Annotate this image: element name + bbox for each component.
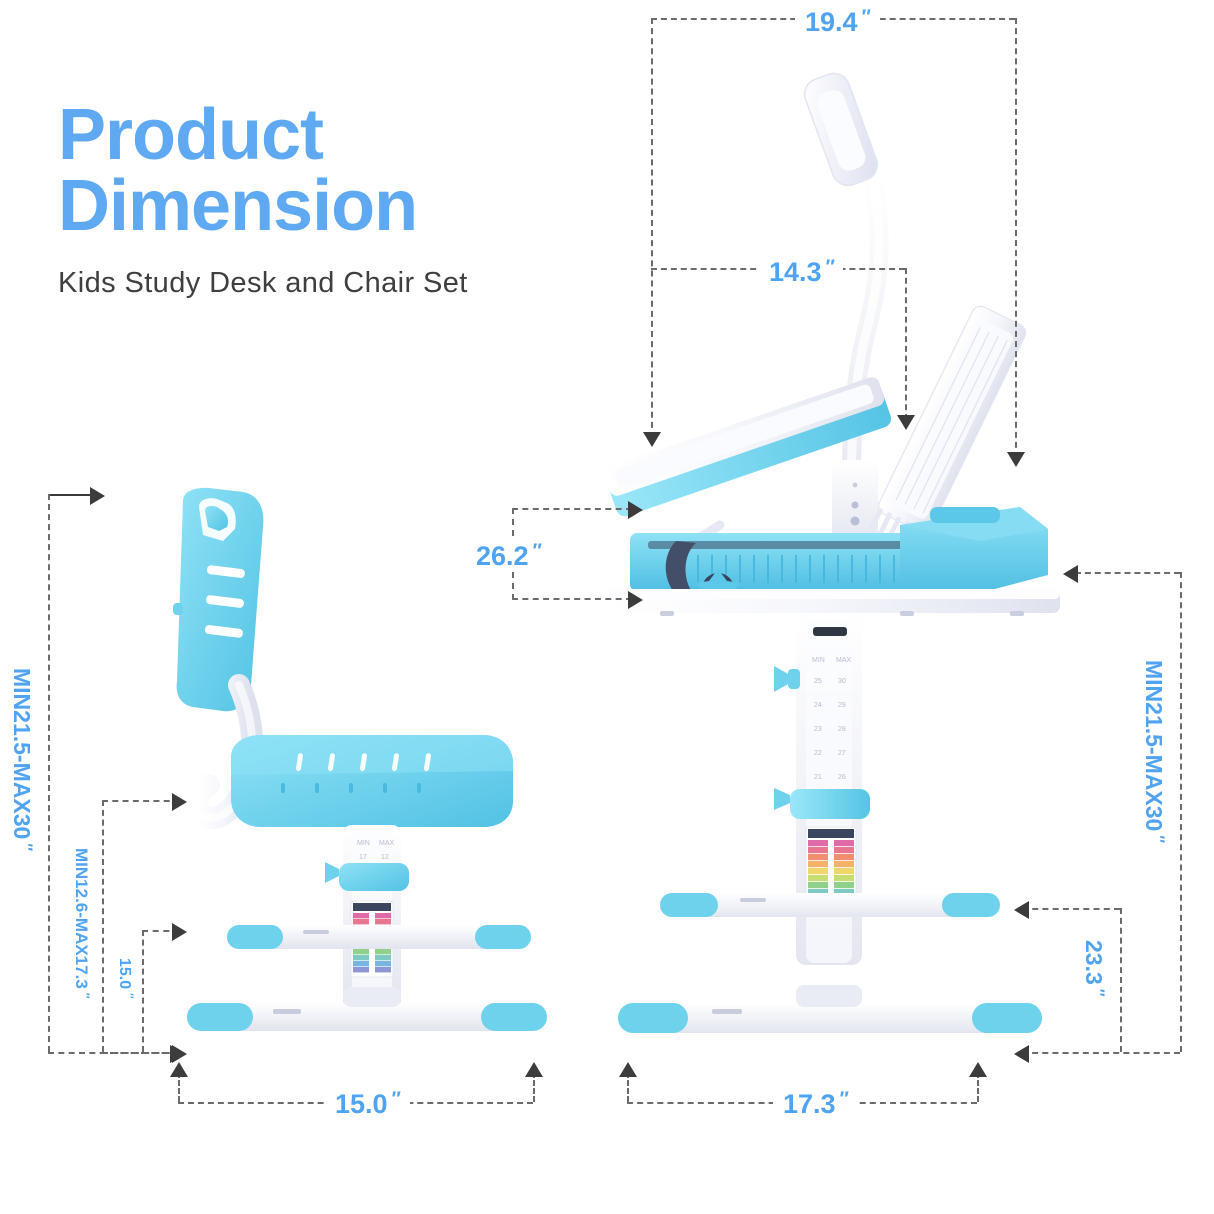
guide-23-3-top (1022, 908, 1120, 910)
arrow-23-3-top (1014, 901, 1029, 919)
svg-text:23: 23 (814, 726, 822, 733)
desk-lamp (800, 69, 882, 546)
dimension-label-desk-inner-width: 14.3″ (760, 256, 843, 288)
svg-text:25: 25 (814, 678, 822, 685)
svg-text:28: 28 (838, 726, 846, 733)
chair-base-bar (187, 987, 547, 1031)
guide-23-3-line (1120, 908, 1122, 1052)
dimension-label-desk-base-width: 17.3″ (773, 1088, 858, 1120)
svg-text:24: 24 (814, 702, 822, 709)
guide-chair-height-line (48, 494, 50, 1052)
arrow-chair-seat-depth-top (172, 923, 187, 941)
desk-base-bar (618, 985, 1042, 1033)
svg-text:MAX: MAX (379, 840, 395, 847)
product-dimension-infographic: Product Dimension Kids Study Desk and Ch… (0, 0, 1214, 1214)
desk-main-top (608, 589, 1060, 616)
dimension-label-chair-seat-depth: 15.0″ (113, 958, 136, 998)
guide-desk-height-line (1180, 572, 1182, 1052)
chair-backrest (173, 488, 263, 711)
arrow-17-3-right (969, 1062, 987, 1077)
svg-text:26: 26 (838, 774, 846, 781)
arrow-19-4-right (1007, 452, 1025, 467)
arrow-chair-seat-depth-bottom (172, 1045, 187, 1063)
dimension-label-desk-height-range: MIN21.5-MAX30″ (1138, 660, 1170, 842)
dimension-label-chair-seat-range: MIN12.6-MAX17.3″ (69, 848, 94, 998)
svg-text:29: 29 (838, 702, 846, 709)
guide-chair-seat-line (102, 800, 104, 1052)
svg-text:MIN: MIN (357, 840, 370, 847)
svg-text:MIN: MIN (812, 657, 825, 664)
guide-26-2-bottom (512, 598, 632, 600)
title-block: Product Dimension Kids Study Desk and Ch… (58, 100, 598, 300)
page-title-line-1: Product (58, 100, 598, 171)
arrow-desk-height-bottom (1014, 1045, 1029, 1063)
desk-upper-crossbar (660, 893, 1000, 917)
arrow-chair-height-top (90, 487, 105, 505)
guide-19-4-right (1015, 18, 1017, 458)
dimension-label-desk-depth: 26.2″ (476, 540, 541, 572)
arrow-14-3-right (897, 415, 915, 430)
svg-text:17: 17 (359, 854, 367, 861)
arrow-19-4-left (643, 432, 661, 447)
svg-text:22: 22 (814, 750, 822, 757)
dimension-label-chair-base-width: 15.0″ (325, 1088, 410, 1120)
svg-text:12: 12 (381, 854, 389, 861)
guide-14-3-right (905, 268, 907, 420)
arrow-chair-seat-top (172, 793, 187, 811)
arrow-17-3-left (619, 1062, 637, 1077)
guide-26-2-left-lower (512, 572, 514, 600)
guide-26-2-left-upper (512, 508, 514, 536)
arrow-26-2-bottom (628, 591, 643, 609)
guide-26-2-top (512, 508, 632, 510)
page-title-line-2: Dimension (58, 171, 598, 242)
chair-height-post: MINMAX 1712 (325, 825, 409, 1015)
svg-text:27: 27 (838, 750, 846, 757)
guide-desk-height-bottom (1022, 1052, 1180, 1054)
arrow-desk-height-top (1063, 565, 1078, 583)
guide-19-4-left (651, 18, 653, 438)
svg-text:MAX: MAX (836, 657, 852, 664)
chair-seat (231, 735, 513, 827)
svg-text:30: 30 (838, 678, 846, 685)
chair-upper-crossbar (227, 925, 531, 949)
dimension-label-chair-height-range: MIN21.5-MAX30″ (6, 668, 38, 850)
guide-chair-seat-depth-line (142, 930, 144, 1052)
arrow-26-2-top (628, 501, 643, 519)
guide-desk-height-top (1075, 572, 1180, 574)
arrow-chair-base-right (525, 1062, 543, 1077)
guide-chair-height-top-solid (48, 494, 96, 496)
dimension-label-desk-base-depth: 23.3″ (1078, 940, 1110, 996)
arrow-chair-base-left (170, 1062, 188, 1077)
svg-text:21: 21 (814, 774, 822, 781)
guide-chair-seat-top (102, 800, 180, 802)
dimension-label-desk-width: 19.4″ (795, 6, 880, 38)
page-subtitle: Kids Study Desk and Chair Set (58, 267, 598, 300)
